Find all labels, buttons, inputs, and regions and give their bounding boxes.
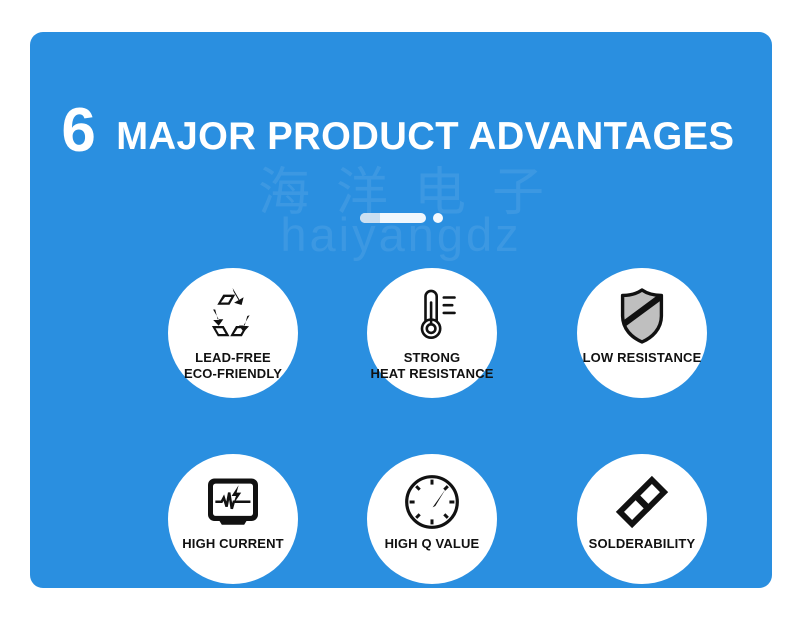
advantage-label: HIGH CURRENT — [133, 536, 333, 552]
advantage-label: STRONG HEAT RESISTANCE — [332, 350, 532, 381]
advantage-label: HIGH Q VALUE — [332, 536, 532, 552]
divider-dot-icon — [433, 213, 443, 223]
advantage-item-high-q-value[interactable]: HIGH Q VALUE — [367, 454, 497, 584]
title-divider — [30, 212, 772, 224]
advantage-item-solderability[interactable]: SOLDERABILITY — [577, 454, 707, 584]
advantage-item-lead-free[interactable]: LEAD-FREE ECO-FRIENDLY — [168, 268, 298, 398]
advantage-item-low-resistance[interactable]: LOW RESISTANCE — [577, 268, 707, 398]
recycle-icon — [168, 285, 298, 347]
gauge-icon — [367, 471, 497, 533]
oscilloscope-icon — [168, 471, 298, 533]
advantages-banner: 海洋电子 haiyangdz 6MAJOR PRODUCT ADVANTAGES… — [30, 32, 772, 588]
page-title: 6MAJOR PRODUCT ADVANTAGES — [30, 100, 772, 162]
shield-icon — [577, 285, 707, 347]
advantage-label: LEAD-FREE ECO-FRIENDLY — [133, 350, 333, 381]
chain-link-icon — [577, 471, 707, 533]
advantage-item-heat-resistance[interactable]: STRONG HEAT RESISTANCE — [367, 268, 497, 398]
thermometer-icon — [367, 285, 497, 347]
divider-bar-icon — [360, 213, 426, 223]
title-text: MAJOR PRODUCT ADVANTAGES — [116, 115, 734, 159]
advantage-item-high-current[interactable]: HIGH CURRENT — [168, 454, 298, 584]
advantage-label: LOW RESISTANCE — [542, 350, 742, 366]
title-number: 6 — [61, 96, 95, 165]
advantage-label: SOLDERABILITY — [542, 536, 742, 552]
